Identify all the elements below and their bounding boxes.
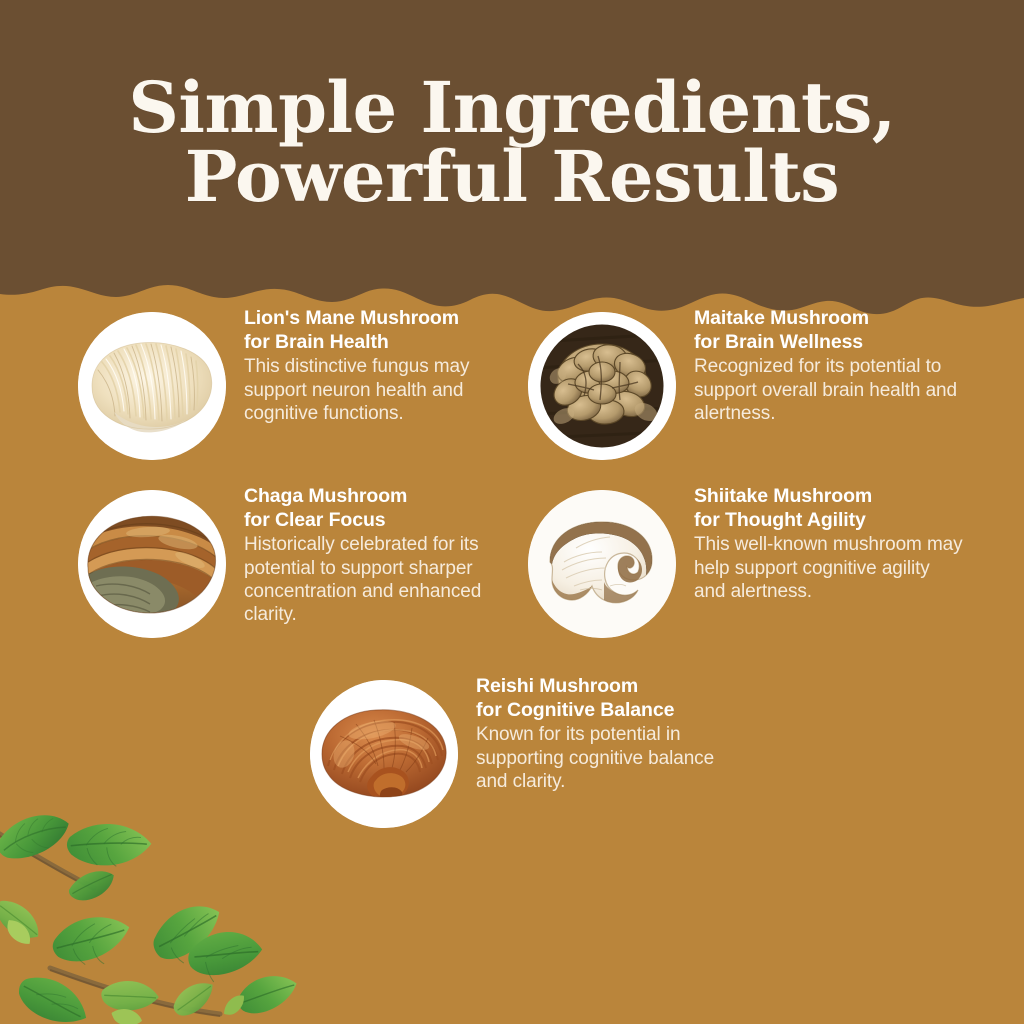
leaf	[0, 891, 42, 948]
leaf-bud	[5, 916, 31, 949]
ingredient-card-chaga: Chaga Mushroom for Clear Focus Historica…	[78, 478, 514, 638]
leaf	[236, 970, 297, 1020]
reishi-description: Known for its potential in supporting co…	[476, 723, 746, 793]
infographic-poster: Simple Ingredients, Powerful Results	[0, 0, 1024, 1024]
maitake-photo-circle	[528, 312, 676, 460]
leaf	[67, 870, 116, 902]
leaf-bud	[109, 1001, 143, 1024]
reishi-heading: Reishi Mushroom for Cognitive Balance	[476, 674, 746, 722]
lions-mane-text: Lion's Mane Mushroom for Brain Health Th…	[226, 300, 514, 425]
reishi-mushroom-icon	[310, 680, 458, 828]
leaf	[170, 981, 217, 1017]
green-leafy-branch-decoration	[0, 800, 320, 1024]
shiitake-text: Shiitake Mushroom for Thought Agility Th…	[676, 478, 964, 603]
chaga-text: Chaga Mushroom for Clear Focus Historica…	[226, 478, 514, 626]
shiitake-description: This well-known mushroom may help suppor…	[694, 533, 964, 603]
chaga-heading: Chaga Mushroom for Clear Focus	[244, 484, 514, 532]
leaf	[183, 914, 264, 995]
maitake-text: Maitake Mushroom for Brain Wellness Reco…	[676, 300, 964, 425]
leaf	[97, 969, 160, 1024]
leaf	[14, 961, 89, 1024]
leaf	[150, 897, 220, 969]
card-row-1: Lion's Mane Mushroom for Brain Health Th…	[0, 300, 1024, 460]
reishi-text: Reishi Mushroom for Cognitive Balance Kn…	[458, 668, 746, 793]
branch-stem-lower	[50, 968, 220, 1014]
maitake-heading: Maitake Mushroom for Brain Wellness	[694, 306, 964, 354]
shiitake-photo-circle	[528, 490, 676, 638]
chaga-mushroom-icon	[78, 490, 226, 638]
reishi-photo-circle	[310, 680, 458, 828]
ingredient-cards: Lion's Mane Mushroom for Brain Health Th…	[0, 300, 1024, 828]
lions-mane-heading: Lion's Mane Mushroom for Brain Health	[244, 306, 514, 354]
leaf-bud	[220, 994, 248, 1017]
lions-mane-description: This distinctive fungus may support neur…	[244, 355, 514, 425]
branch-stem-upper	[0, 822, 94, 888]
ingredient-card-lions-mane: Lion's Mane Mushroom for Brain Health Th…	[78, 300, 514, 460]
leaf	[50, 905, 130, 974]
ingredient-card-maitake: Maitake Mushroom for Brain Wellness Reco…	[528, 300, 964, 460]
header-band	[0, 0, 1024, 340]
maitake-description: Recognized for its potential to support …	[694, 355, 964, 425]
lions-mane-photo-circle	[78, 312, 226, 460]
shiitake-heading: Shiitake Mushroom for Thought Agility	[694, 484, 964, 532]
shiitake-mushroom-icon	[528, 490, 676, 638]
ingredient-card-shiitake: Shiitake Mushroom for Thought Agility Th…	[528, 478, 964, 638]
ingredient-card-reishi: Reishi Mushroom for Cognitive Balance Kn…	[310, 668, 746, 828]
lions-mane-mushroom-icon	[78, 312, 226, 460]
torn-edge-shape	[0, 0, 1024, 314]
chaga-photo-circle	[78, 490, 226, 638]
card-row-3: Reishi Mushroom for Cognitive Balance Kn…	[0, 668, 1024, 828]
maitake-mushroom-icon	[528, 312, 676, 460]
card-row-2: Chaga Mushroom for Clear Focus Historica…	[0, 478, 1024, 638]
chaga-description: Historically celebrated for its potentia…	[244, 533, 514, 626]
